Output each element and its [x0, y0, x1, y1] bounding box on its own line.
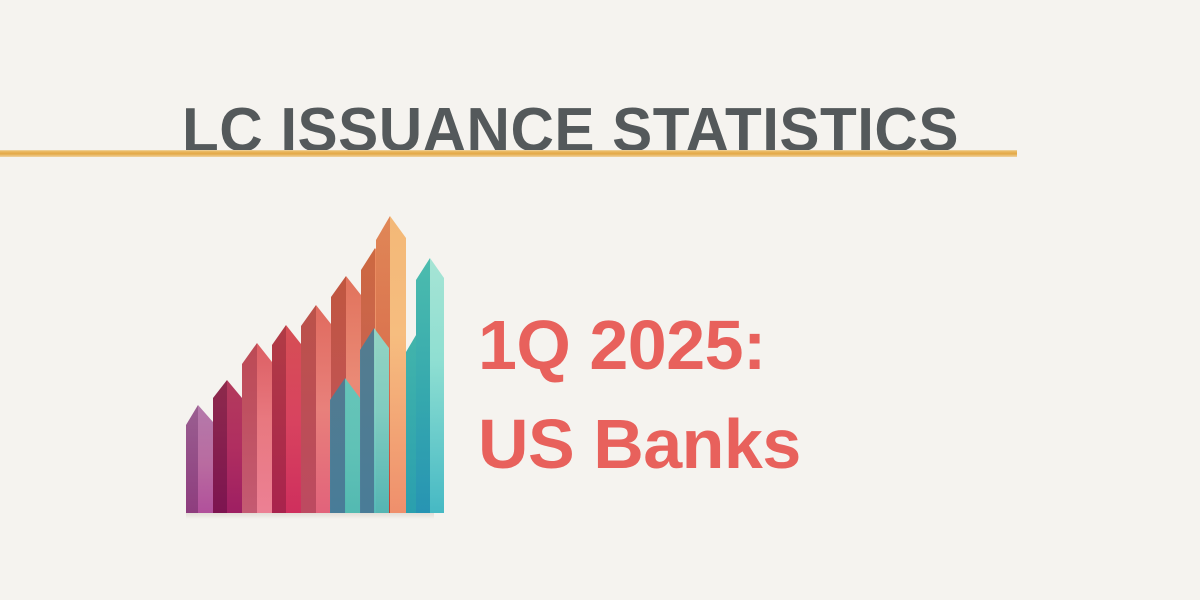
- chart-bar-1: [186, 405, 213, 513]
- chart-bar-11: [416, 258, 444, 513]
- bar-chart-graphic: [180, 200, 450, 530]
- headline-line-subject: US Banks: [478, 395, 938, 494]
- chart-bar-4: [272, 325, 301, 513]
- chart-baseline-shadow: [186, 512, 434, 519]
- headline: 1Q 2025: US Banks: [478, 296, 938, 495]
- chart-bar-9b: [360, 328, 389, 513]
- chart-bar-9: [330, 378, 360, 513]
- chart-bar-2: [213, 380, 242, 513]
- chart-bar-5: [301, 305, 331, 513]
- bar-chart-icon: [180, 200, 450, 530]
- header-divider: [0, 150, 1017, 157]
- poster-canvas: LC ISSUANCE STATISTICS: [0, 0, 1200, 600]
- chart-bar-3: [242, 343, 272, 513]
- headline-line-quarter: 1Q 2025:: [478, 296, 938, 395]
